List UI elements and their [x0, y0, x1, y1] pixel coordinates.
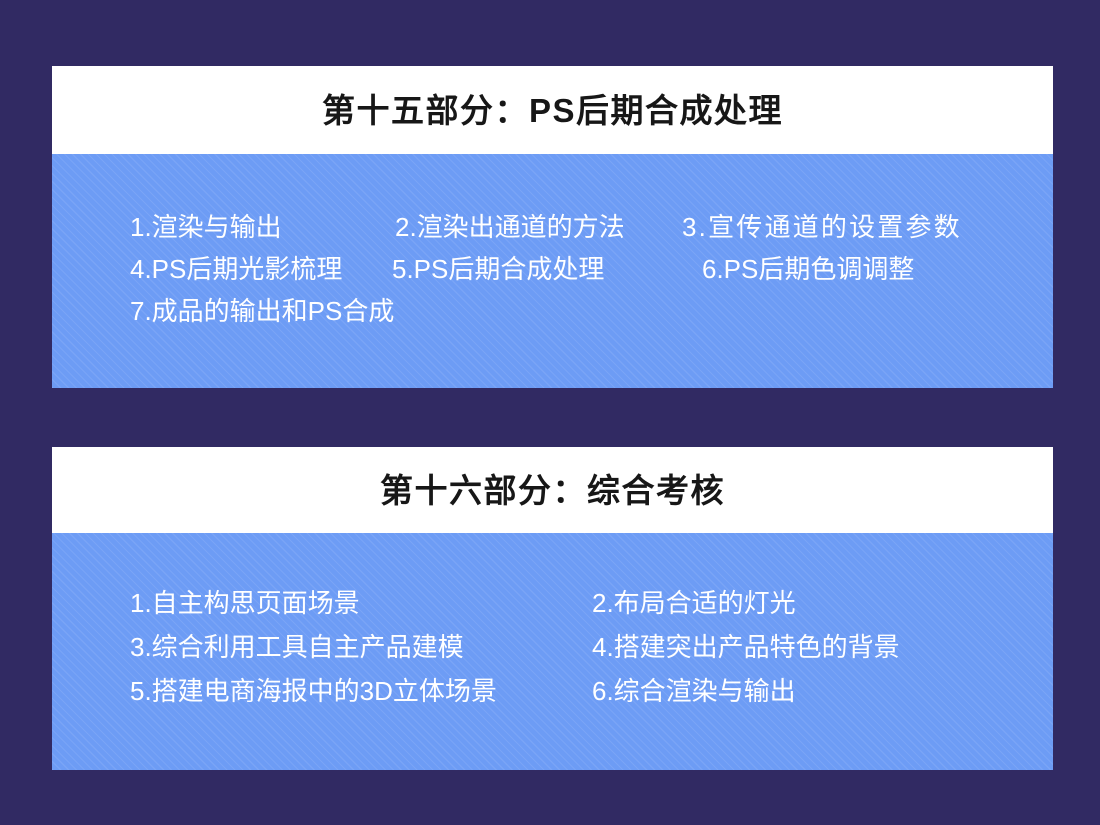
item-row: 3.综合利用工具自主产品建模 4.搭建突出产品特色的背景: [52, 625, 1053, 669]
list-item[interactable]: 6.综合渲染与输出: [592, 669, 796, 713]
item-row: 7.成品的输出和PS合成: [52, 290, 1053, 332]
list-item[interactable]: 3.宣传通道的设置参数: [682, 206, 962, 248]
section-header-16: 第十六部分：综合考核: [52, 447, 1053, 533]
item-row: 5.搭建电商海报中的3D立体场景 6.综合渲染与输出: [52, 669, 1053, 713]
section-card-16: 第十六部分：综合考核 1.自主构思页面场景 2.布局合适的灯光 3.综合利用工具…: [52, 447, 1053, 770]
item-list-16: 1.自主构思页面场景 2.布局合适的灯光 3.综合利用工具自主产品建模 4.搭建…: [52, 581, 1053, 713]
item-row: 1.自主构思页面场景 2.布局合适的灯光: [52, 581, 1053, 625]
item-row: 1.渲染与输出 2.渲染出通道的方法 3.宣传通道的设置参数: [52, 206, 1053, 248]
section-header-15: 第十五部分：PS后期合成处理: [52, 66, 1053, 154]
slide-canvas: 第十五部分：PS后期合成处理 1.渲染与输出 2.渲染出通道的方法 3.宣传通道…: [0, 0, 1100, 825]
list-item[interactable]: 5.搭建电商海报中的3D立体场景: [130, 669, 497, 713]
item-list-15: 1.渲染与输出 2.渲染出通道的方法 3.宣传通道的设置参数 4.PS后期光影梳…: [52, 206, 1053, 332]
section-body-15: 1.渲染与输出 2.渲染出通道的方法 3.宣传通道的设置参数 4.PS后期光影梳…: [52, 154, 1053, 388]
list-item[interactable]: 6.PS后期色调调整: [702, 248, 914, 290]
item-row: 4.PS后期光影梳理 5.PS后期合成处理 6.PS后期色调调整: [52, 248, 1053, 290]
list-item[interactable]: 7.成品的输出和PS合成: [130, 290, 394, 332]
list-item[interactable]: 4.搭建突出产品特色的背景: [592, 625, 900, 669]
list-item[interactable]: 2.布局合适的灯光: [592, 581, 796, 625]
list-item[interactable]: 4.PS后期光影梳理: [130, 248, 342, 290]
list-item[interactable]: 1.渲染与输出: [130, 206, 282, 248]
page-title: 第十六部分：综合考核: [380, 474, 725, 507]
list-item[interactable]: 3.综合利用工具自主产品建模: [130, 625, 464, 669]
list-item[interactable]: 1.自主构思页面场景: [130, 581, 360, 625]
section-body-16: 1.自主构思页面场景 2.布局合适的灯光 3.综合利用工具自主产品建模 4.搭建…: [52, 533, 1053, 770]
section-card-15: 第十五部分：PS后期合成处理 1.渲染与输出 2.渲染出通道的方法 3.宣传通道…: [52, 66, 1053, 388]
list-item[interactable]: 5.PS后期合成处理: [392, 248, 604, 290]
page-title: 第十五部分：PS后期合成处理: [322, 94, 783, 127]
list-item[interactable]: 2.渲染出通道的方法: [395, 206, 625, 248]
